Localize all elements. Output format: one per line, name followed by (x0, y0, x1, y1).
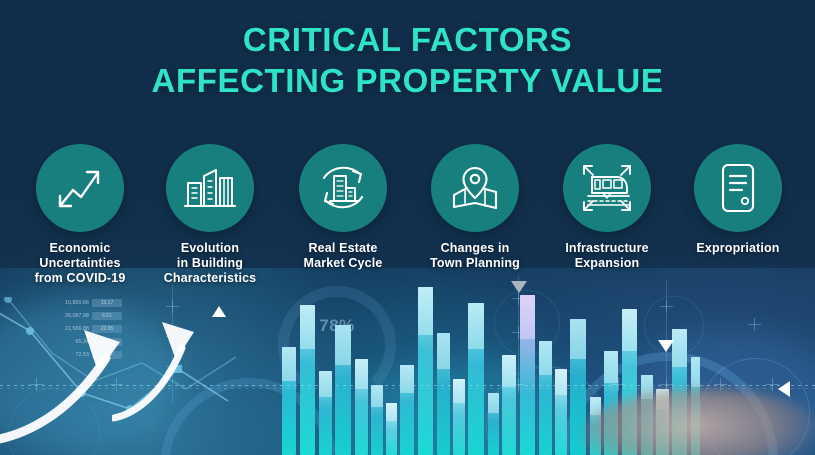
factor-label-line: Expansion (541, 256, 673, 271)
factor-icon-circle (431, 144, 519, 232)
triangle-up-white-marker (212, 306, 226, 317)
triangle-left-white-marker (778, 381, 790, 397)
title-line-2: AFFECTING PROPERTY VALUE (0, 63, 815, 99)
cross-tick (660, 300, 673, 313)
trend-arrow-icon (54, 162, 106, 214)
factor-label: Changes in Town Planning (409, 241, 541, 271)
factor-label: Economic Uncertainties from COVID-19 (14, 241, 146, 285)
factor-label-line: Infrastructure (541, 241, 673, 256)
factor-label-line: in Building (144, 256, 276, 271)
factor-label-line: Evolution (144, 241, 276, 256)
factor-label-line: Economic (14, 241, 146, 256)
factor-label-line: Real Estate (277, 241, 409, 256)
infographic-canvas: 78% (0, 0, 815, 455)
document-icon (714, 161, 762, 215)
factor-label-line: from COVID-19 (14, 271, 146, 286)
cross-tick (612, 378, 625, 391)
triangle-down-grey-marker (511, 281, 527, 293)
factor-label-line: Uncertainties (14, 256, 146, 271)
factor-market-cycle[interactable]: Real Estate Market Cycle (277, 144, 409, 271)
factor-expropriation[interactable]: Expropriation (672, 144, 804, 256)
factor-icon-circle (299, 144, 387, 232)
factor-icon-circle (694, 144, 782, 232)
factor-infrastructure-expansion[interactable]: Infrastructure Expansion (541, 144, 673, 271)
factor-icon-circle (36, 144, 124, 232)
cross-tick (512, 378, 525, 391)
factor-label-line: Town Planning (409, 256, 541, 271)
factor-label-line: Market Cycle (277, 256, 409, 271)
factor-town-planning[interactable]: Changes in Town Planning (409, 144, 541, 271)
cross-tick (660, 378, 673, 391)
cross-tick (512, 326, 525, 339)
factor-label: Expropriation (672, 241, 804, 256)
factor-label-line: Expropriation (672, 241, 804, 256)
page-title: CRITICAL FACTORS AFFECTING PROPERTY VALU… (0, 22, 815, 100)
factor-label: Real Estate Market Cycle (277, 241, 409, 271)
factor-label-line: Characteristics (144, 271, 276, 286)
factors-row: Economic Uncertainties from COVID-19 (0, 144, 815, 274)
cross-tick (512, 292, 525, 305)
factor-icon-circle (166, 144, 254, 232)
cross-tick (748, 318, 761, 331)
factor-label: Infrastructure Expansion (541, 241, 673, 271)
factor-icon-circle (563, 144, 651, 232)
factor-economic-uncertainties[interactable]: Economic Uncertainties from COVID-19 (14, 144, 146, 285)
train-expand-icon (579, 161, 635, 215)
buildings-icon (183, 162, 237, 214)
map-pin-icon (448, 162, 502, 214)
factor-label: Evolution in Building Characteristics (144, 241, 276, 285)
cycle-building-icon (315, 161, 371, 215)
title-line-1: CRITICAL FACTORS (0, 22, 815, 58)
factor-label-line: Changes in (409, 241, 541, 256)
triangle-down-white-marker (658, 340, 674, 352)
factor-building-characteristics[interactable]: Evolution in Building Characteristics (144, 144, 276, 285)
